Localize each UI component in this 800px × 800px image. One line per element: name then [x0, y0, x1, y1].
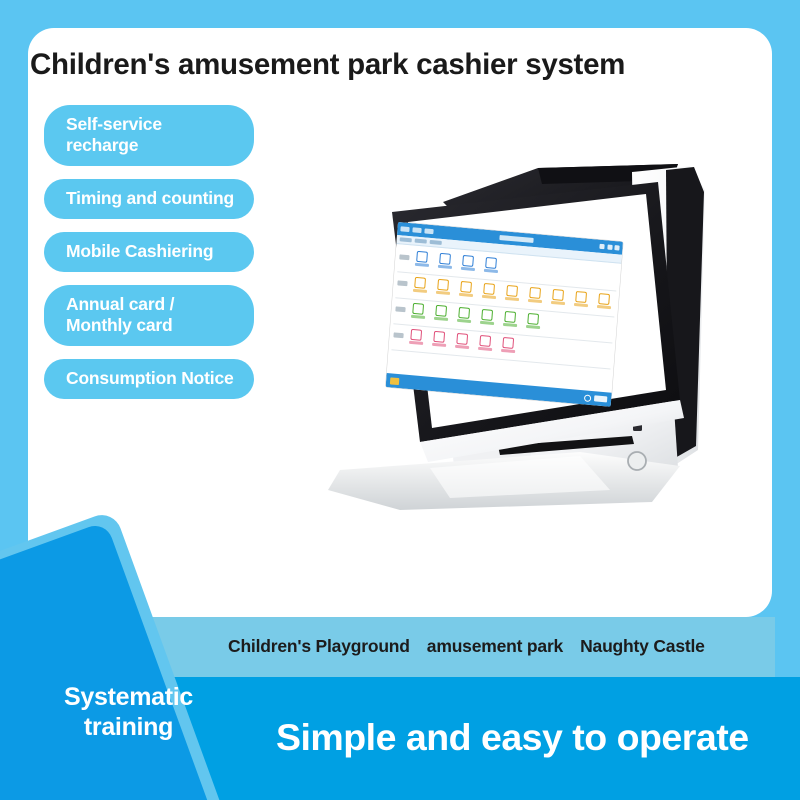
product-tile[interactable] — [524, 287, 546, 304]
refresh-icon[interactable] — [584, 394, 592, 402]
product-tile[interactable] — [451, 332, 473, 349]
checkout-button[interactable] — [594, 395, 607, 402]
product-tile[interactable] — [497, 337, 519, 354]
row-category-label — [393, 332, 403, 338]
product-tile[interactable] — [453, 306, 475, 323]
product-tile[interactable] — [547, 289, 569, 306]
toolbar-item[interactable] — [400, 237, 412, 242]
product-tile[interactable] — [407, 302, 429, 319]
alert-icon — [456, 333, 468, 345]
close-icon[interactable] — [614, 245, 619, 250]
feature-pill-annual-monthly-card[interactable]: Annual card / Monthly card — [44, 285, 254, 346]
card-icon — [414, 277, 426, 289]
status-badge — [390, 377, 400, 385]
ticket-icon — [416, 251, 428, 263]
alert-icon — [502, 337, 514, 349]
keyword-list: Children's Playgroundamusement parkNaugh… — [228, 636, 705, 657]
row-category-label — [397, 280, 407, 286]
pos-screen-ui — [386, 222, 623, 407]
card-icon — [529, 287, 541, 299]
card-icon — [437, 279, 449, 291]
systematic-training-badge: Systematic training — [36, 682, 221, 742]
report-icon — [527, 313, 539, 325]
row-category-label — [399, 254, 409, 260]
alert-icon — [479, 335, 491, 347]
card-icon — [575, 291, 587, 303]
card-icon — [598, 293, 610, 305]
alert-icon — [410, 329, 422, 341]
product-tile[interactable] — [593, 293, 615, 310]
report-icon — [504, 311, 516, 323]
report-icon — [435, 305, 447, 317]
maximize-icon[interactable] — [607, 244, 612, 249]
product-tile[interactable] — [499, 311, 521, 328]
card-icon — [552, 289, 564, 301]
feature-pill-mobile-cashiering[interactable]: Mobile Cashiering — [44, 232, 254, 272]
feature-pill-consumption-notice[interactable]: Consumption Notice — [44, 359, 254, 399]
pos-window-title — [499, 235, 533, 243]
toolbar-item[interactable] — [415, 239, 427, 244]
card-icon — [460, 281, 472, 293]
product-tile[interactable] — [432, 278, 454, 295]
keyword-amusement-park: amusement park — [427, 636, 563, 656]
ticket-icon — [485, 257, 497, 269]
keyword-childrens-playground: Children's Playground — [228, 636, 410, 656]
product-tile[interactable] — [478, 282, 500, 299]
card-icon — [483, 283, 495, 295]
toolbar-item[interactable] — [430, 240, 442, 245]
report-icon — [412, 303, 424, 315]
power-button — [628, 452, 646, 470]
product-tile[interactable] — [501, 285, 523, 302]
product-tile[interactable] — [411, 250, 433, 267]
settings-icon — [424, 228, 433, 234]
product-tile[interactable] — [409, 276, 431, 293]
feature-pill-list: Self-service recharge Timing and countin… — [44, 105, 254, 412]
feature-pill-self-service-recharge[interactable]: Self-service recharge — [44, 105, 254, 166]
menu-icon — [400, 226, 409, 232]
product-tile[interactable] — [455, 280, 477, 297]
pos-product-grid — [388, 244, 621, 372]
card-icon — [506, 285, 518, 297]
product-tile[interactable] — [570, 291, 592, 308]
product-tile[interactable] — [522, 313, 544, 330]
row-category-label — [395, 306, 405, 312]
badge-line-1: Systematic — [36, 682, 221, 712]
user-icon — [412, 227, 421, 233]
product-tile[interactable] — [457, 254, 479, 271]
product-tile[interactable] — [428, 330, 450, 347]
badge-line-2: training — [36, 712, 221, 742]
report-icon — [481, 309, 493, 321]
product-tile[interactable] — [434, 252, 456, 269]
tagline: Simple and easy to operate — [276, 716, 749, 759]
ticket-icon — [462, 255, 474, 267]
product-tile[interactable] — [430, 304, 452, 321]
product-tile[interactable] — [476, 308, 498, 325]
product-tile[interactable] — [474, 334, 496, 351]
page-title: Children's amusement park cashier system — [30, 48, 720, 82]
ticket-icon — [439, 253, 451, 265]
minimize-icon[interactable] — [599, 244, 604, 249]
product-tile[interactable] — [480, 256, 502, 273]
alert-icon — [433, 331, 445, 343]
product-tile[interactable] — [405, 328, 427, 345]
feature-pill-timing-and-counting[interactable]: Timing and counting — [44, 179, 254, 219]
poster-canvas: Children's amusement park cashier system… — [0, 0, 800, 800]
report-icon — [458, 307, 470, 319]
keyword-naughty-castle: Naughty Castle — [580, 636, 705, 656]
